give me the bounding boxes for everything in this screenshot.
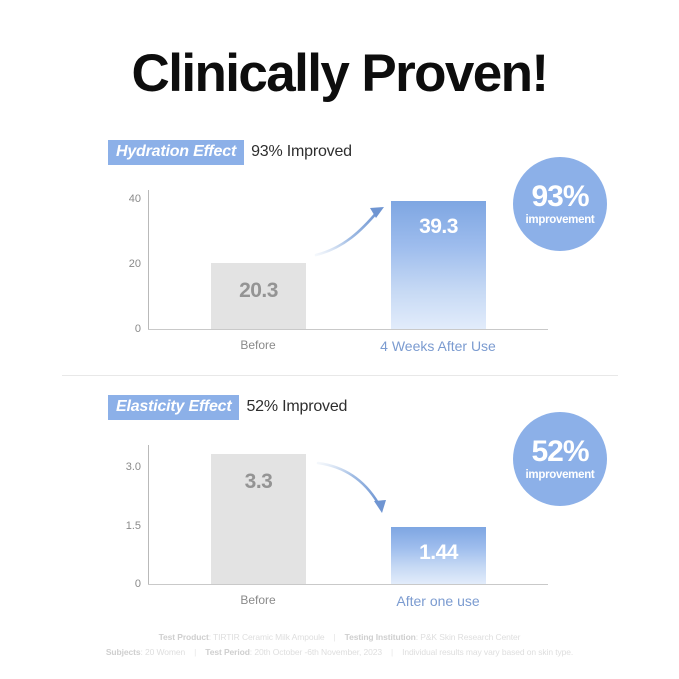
section-hydration: Hydration Effect 93% Improved 93% improv… (0, 140, 679, 365)
footer-value-testing-institution: : P&K Skin Research Center (416, 632, 521, 642)
bar-after: 1.44 (391, 527, 486, 584)
footer-value-subjects: : 20 Women (140, 647, 185, 657)
bar-value-label: 20.3 (211, 279, 306, 303)
bar-after: 39.3 (391, 201, 486, 329)
y-tick-label: 0 (135, 578, 141, 590)
bar-value-label: 1.44 (391, 541, 486, 565)
bar-value-label: 3.3 (211, 470, 306, 494)
section-subtitle-elasticity: 52% Improved (246, 398, 347, 416)
footer-line-1: Test Product: TIRTIR Ceramic Milk Ampoul… (0, 630, 679, 645)
section-elasticity: Elasticity Effect 52% Improved 52% impro… (0, 395, 679, 620)
bar-before: 20.3 (211, 263, 306, 329)
y-axis-line (148, 190, 149, 330)
section-divider (62, 375, 618, 376)
bar-value-label: 39.3 (391, 215, 486, 239)
bar-before: 3.3 (211, 454, 306, 584)
section-header-elasticity: Elasticity Effect 52% Improved (108, 395, 347, 420)
section-tag-hydration: Hydration Effect (108, 140, 244, 165)
x-axis-label-before: Before (240, 338, 275, 352)
footer-label-test-product: Test Product (159, 632, 209, 642)
x-axis-label-before: Before (240, 593, 275, 607)
y-tick-label: 3.0 (126, 461, 141, 473)
y-axis-line (148, 445, 149, 585)
y-tick-label: 0 (135, 323, 141, 335)
footer-label-test-period: Test Period (205, 647, 250, 657)
footer-line-2: Subjects: 20 Women|Test Period: 20th Oct… (0, 645, 679, 660)
page-title: Clinically Proven! (0, 46, 679, 102)
chart-hydration: 0 20 40 20.3 39.3 (0, 182, 679, 367)
y-tick-label: 1.5 (126, 520, 141, 532)
x-axis-line (148, 584, 548, 585)
footer-separator: | (185, 645, 205, 660)
footer-label-testing-institution: Testing Institution (345, 632, 416, 642)
trend-arrow-down-icon (148, 445, 548, 593)
footer-value-test-product: : TIRTIR Ceramic Milk Ampoule (209, 632, 325, 642)
x-axis-label-after: 4 Weeks After Use (380, 338, 496, 354)
footer-value-test-period: : 20th October -6th November, 2023 (250, 647, 382, 657)
y-tick-label: 20 (129, 258, 141, 270)
plot-area-hydration: 0 20 40 20.3 39.3 (148, 190, 548, 330)
y-tick-label: 40 (129, 193, 141, 205)
infographic-page: Clinically Proven! Hydration Effect 93% … (0, 0, 679, 679)
trend-arrow-up-icon (148, 190, 548, 338)
chart-elasticity: 0 1.5 3.0 3.3 1.44 (0, 437, 679, 622)
section-subtitle-hydration: 93% Improved (251, 143, 352, 161)
footer-separator: | (382, 645, 402, 660)
section-tag-elasticity: Elasticity Effect (108, 395, 239, 420)
footer-separator: | (325, 630, 345, 645)
x-axis-label-after: After one use (396, 593, 479, 609)
plot-area-elasticity: 0 1.5 3.0 3.3 1.44 (148, 445, 548, 585)
footer-disclaimer: Test Product: TIRTIR Ceramic Milk Ampoul… (0, 630, 679, 660)
section-header-hydration: Hydration Effect 93% Improved (108, 140, 352, 165)
footer-note: Individual results may vary based on ski… (402, 647, 573, 657)
footer-label-subjects: Subjects (106, 647, 141, 657)
x-axis-line (148, 329, 548, 330)
